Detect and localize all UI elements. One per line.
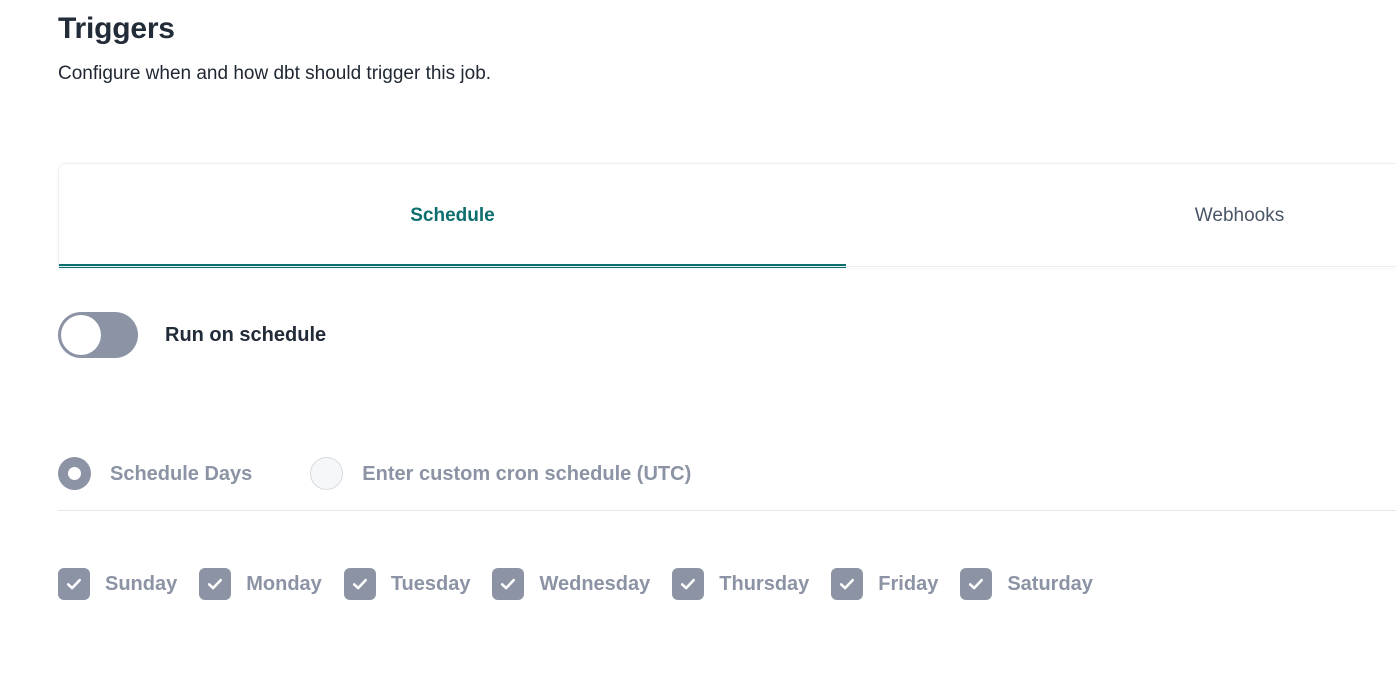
page-subtitle: Configure when and how dbt should trigge… — [58, 48, 1358, 87]
day-checkbox-monday[interactable]: Monday — [199, 568, 322, 600]
check-icon — [58, 568, 90, 600]
run-on-schedule-label: Run on schedule — [165, 323, 326, 347]
day-label-sunday: Sunday — [105, 572, 177, 596]
radio-custom-cron[interactable]: Enter custom cron schedule (UTC) — [310, 457, 691, 490]
check-icon — [344, 568, 376, 600]
tabs-bottom-border — [58, 266, 1396, 267]
schedule-mode-group: Schedule Days Enter custom cron schedule… — [58, 457, 691, 490]
radio-empty-icon — [310, 457, 343, 490]
day-checkbox-tuesday[interactable]: Tuesday — [344, 568, 471, 600]
day-label-wednesday: Wednesday — [539, 572, 650, 596]
day-label-thursday: Thursday — [719, 572, 809, 596]
check-icon — [672, 568, 704, 600]
check-icon — [492, 568, 524, 600]
radio-schedule-days[interactable]: Schedule Days — [58, 457, 252, 490]
radio-schedule-days-label: Schedule Days — [110, 462, 252, 486]
day-checkbox-thursday[interactable]: Thursday — [672, 568, 809, 600]
day-checkbox-friday[interactable]: Friday — [831, 568, 938, 600]
day-label-friday: Friday — [878, 572, 938, 596]
day-label-monday: Monday — [246, 572, 322, 596]
check-icon — [960, 568, 992, 600]
page-header: Triggers Configure when and how dbt shou… — [58, 10, 1358, 87]
radio-selected-icon — [58, 457, 91, 490]
toggle-switch-icon — [61, 315, 101, 355]
tab-webhooks[interactable]: Webhooks — [846, 204, 1396, 228]
tab-list: Schedule Webhooks — [59, 164, 1396, 268]
tabs-card: Schedule Webhooks — [58, 163, 1396, 268]
schedule-days-group: Sunday Monday Tuesday Wednesday Thursday — [58, 568, 1093, 600]
triggers-page: Triggers Configure when and how dbt shou… — [0, 0, 1396, 680]
check-icon — [199, 568, 231, 600]
check-icon — [831, 568, 863, 600]
day-checkbox-wednesday[interactable]: Wednesday — [492, 568, 650, 600]
radio-custom-cron-label: Enter custom cron schedule (UTC) — [362, 462, 691, 486]
run-on-schedule-row: Run on schedule — [58, 312, 326, 358]
section-divider — [58, 510, 1396, 511]
run-on-schedule-toggle[interactable] — [58, 312, 138, 358]
day-label-tuesday: Tuesday — [391, 572, 471, 596]
page-title: Triggers — [58, 10, 1358, 48]
day-checkbox-saturday[interactable]: Saturday — [960, 568, 1093, 600]
day-checkbox-sunday[interactable]: Sunday — [58, 568, 177, 600]
day-label-saturday: Saturday — [1007, 572, 1093, 596]
tab-schedule[interactable]: Schedule — [59, 204, 846, 228]
